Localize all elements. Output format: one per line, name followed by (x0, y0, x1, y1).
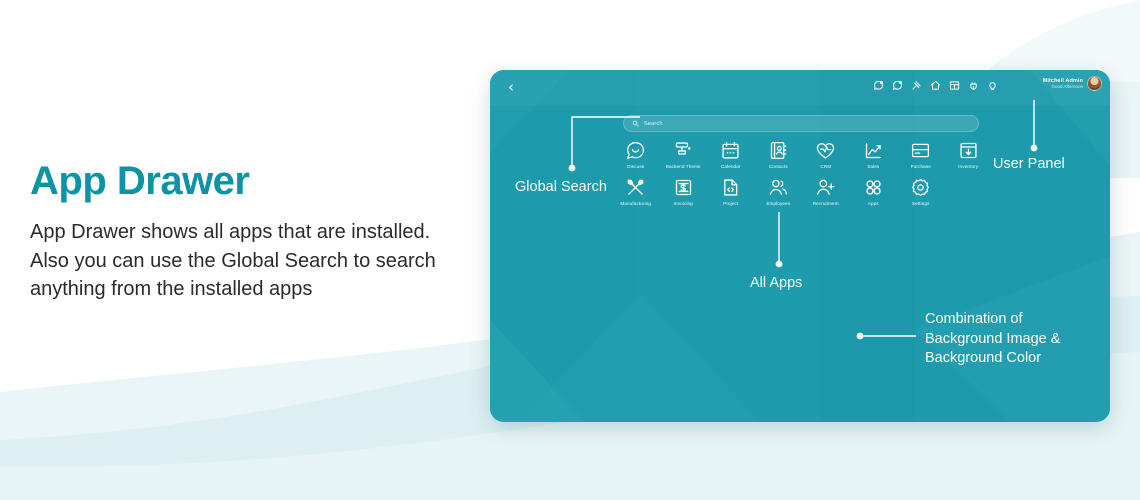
activity-icon[interactable] (892, 80, 903, 91)
app-label: Inventory (958, 164, 978, 169)
intro-copy-block: App Drawer App Drawer shows all apps tha… (30, 160, 450, 304)
app-item-purchase[interactable]: Purchase (897, 140, 945, 169)
app-label: Discuss (627, 164, 644, 169)
user-text-block: Mitchell Admin Good Afternoon (1043, 78, 1083, 89)
app-label: Calendar (721, 164, 741, 169)
app-item-apps[interactable]: Apps (850, 177, 898, 206)
app-label: Recruitment (813, 201, 839, 206)
app-label: Backend Theme (666, 164, 701, 169)
app-item-employees[interactable]: Employees (755, 177, 803, 206)
purchase-icon (910, 140, 931, 161)
app-label: Project (723, 201, 738, 206)
app-item-project[interactable]: Project (707, 177, 755, 206)
app-item-recruitment[interactable]: Recruitment (802, 177, 850, 206)
app-item-crm[interactable]: CRM (802, 140, 850, 169)
shortcut-icon[interactable] (911, 80, 922, 91)
search-placeholder: Search (644, 121, 663, 127)
annotation-global-search: Global Search (515, 178, 607, 198)
manufacturing-icon (625, 177, 646, 198)
invoicing-icon (673, 177, 694, 198)
annotation-all-apps: All Apps (750, 274, 802, 294)
sales-icon (863, 140, 884, 161)
apps-icon (863, 177, 884, 198)
app-label: Settings (912, 201, 930, 206)
bug-icon[interactable] (968, 80, 979, 91)
avatar[interactable] (1087, 76, 1102, 91)
app-grid: Discuss Backend Theme Calendar Contacts … (612, 140, 992, 206)
app-label: Employees (766, 201, 790, 206)
recruitment-icon (815, 177, 836, 198)
app-label: Contacts (769, 164, 788, 169)
app-item-inventory[interactable]: Inventory (945, 140, 993, 169)
app-label: Sales (867, 164, 879, 169)
app-label: Purchase (911, 164, 931, 169)
search-input[interactable]: Search (623, 115, 979, 132)
discuss-icon (625, 140, 646, 161)
app-item-discuss[interactable]: Discuss (612, 140, 660, 169)
backend-theme-icon (673, 140, 694, 161)
home-icon[interactable] (930, 80, 941, 91)
app-item-sales[interactable]: Sales (850, 140, 898, 169)
app-label: CRM (820, 164, 831, 169)
messages-icon[interactable] (873, 80, 884, 91)
project-icon (720, 177, 741, 198)
crm-icon (815, 140, 836, 161)
annotation-background-combination: Combination of Background Image & Backgr… (925, 310, 1060, 369)
app-item-invoicing[interactable]: Invoicing (660, 177, 708, 206)
drawer-topbar (490, 70, 1110, 106)
app-drawer-panel: ‹ Mitchell Admin Good Afternoon Search D… (490, 70, 1110, 422)
page-title: App Drawer (30, 160, 450, 202)
grid-icon[interactable] (949, 80, 960, 91)
contacts-icon (768, 140, 789, 161)
app-item-contacts[interactable]: Contacts (755, 140, 803, 169)
bulb-icon[interactable] (987, 80, 998, 91)
employees-icon (768, 177, 789, 198)
search-icon (632, 120, 639, 127)
user-panel[interactable]: Mitchell Admin Good Afternoon (1043, 76, 1102, 91)
app-item-backend-theme[interactable]: Backend Theme (660, 140, 708, 169)
app-label: Manufacturing (620, 201, 651, 206)
app-item-manufacturing[interactable]: Manufacturing (612, 177, 660, 206)
app-label: Invoicing (674, 201, 693, 206)
app-label: Apps (868, 201, 879, 206)
app-item-settings[interactable]: Settings (897, 177, 945, 206)
topbar-icon-group (873, 80, 998, 91)
user-greeting: Good Afternoon (1043, 84, 1083, 89)
app-item-calendar[interactable]: Calendar (707, 140, 755, 169)
inventory-icon (958, 140, 979, 161)
settings-icon (910, 177, 931, 198)
annotation-user-panel: User Panel (993, 155, 1065, 175)
page-description: App Drawer shows all apps that are insta… (30, 218, 450, 304)
calendar-icon (720, 140, 741, 161)
